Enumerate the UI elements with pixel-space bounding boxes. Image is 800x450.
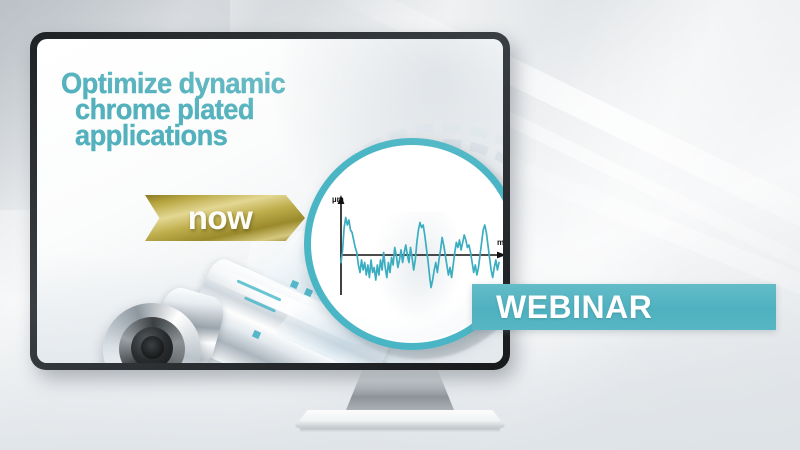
headline-line-3: applications (75, 123, 334, 149)
headline: Optimize dynamic chrome plated applicati… (61, 71, 351, 149)
monitor-stand-base-edge (300, 428, 500, 433)
webinar-banner: WEBINAR (472, 284, 776, 330)
banner-stage: Optimize dynamic chrome plated applicati… (0, 0, 800, 450)
monitor-stand-neck (344, 368, 456, 415)
chart-x-axis-label: mm (497, 238, 503, 247)
chart-axes (338, 195, 503, 295)
rod-end-eye-hole (141, 336, 164, 359)
roughness-profile-line (341, 218, 499, 288)
monitor-screen: Optimize dynamic chrome plated applicati… (37, 39, 503, 363)
webinar-label: WEBINAR (472, 289, 652, 326)
now-ribbon-label: now (145, 195, 295, 241)
desktop-monitor: Optimize dynamic chrome plated applicati… (30, 32, 510, 370)
chart-y-axis-label: µm (332, 195, 344, 204)
